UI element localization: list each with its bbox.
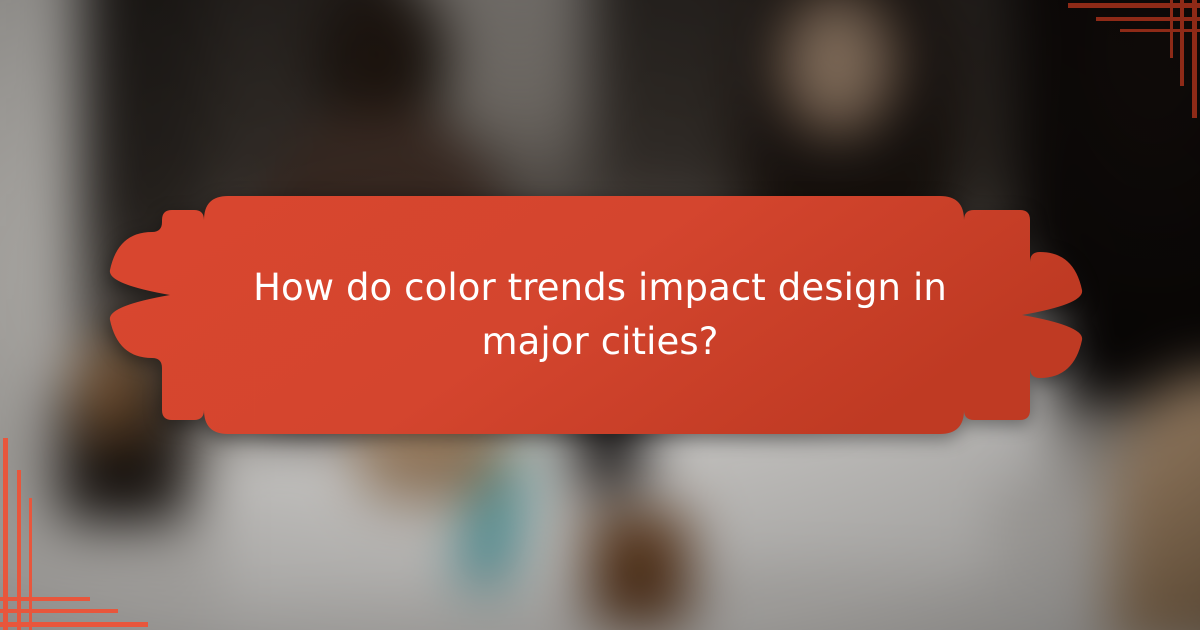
question-badge xyxy=(108,196,1084,434)
question-card-stage: How do color trends impact design in maj… xyxy=(0,0,1200,630)
badge-shape-icon xyxy=(108,196,1084,434)
